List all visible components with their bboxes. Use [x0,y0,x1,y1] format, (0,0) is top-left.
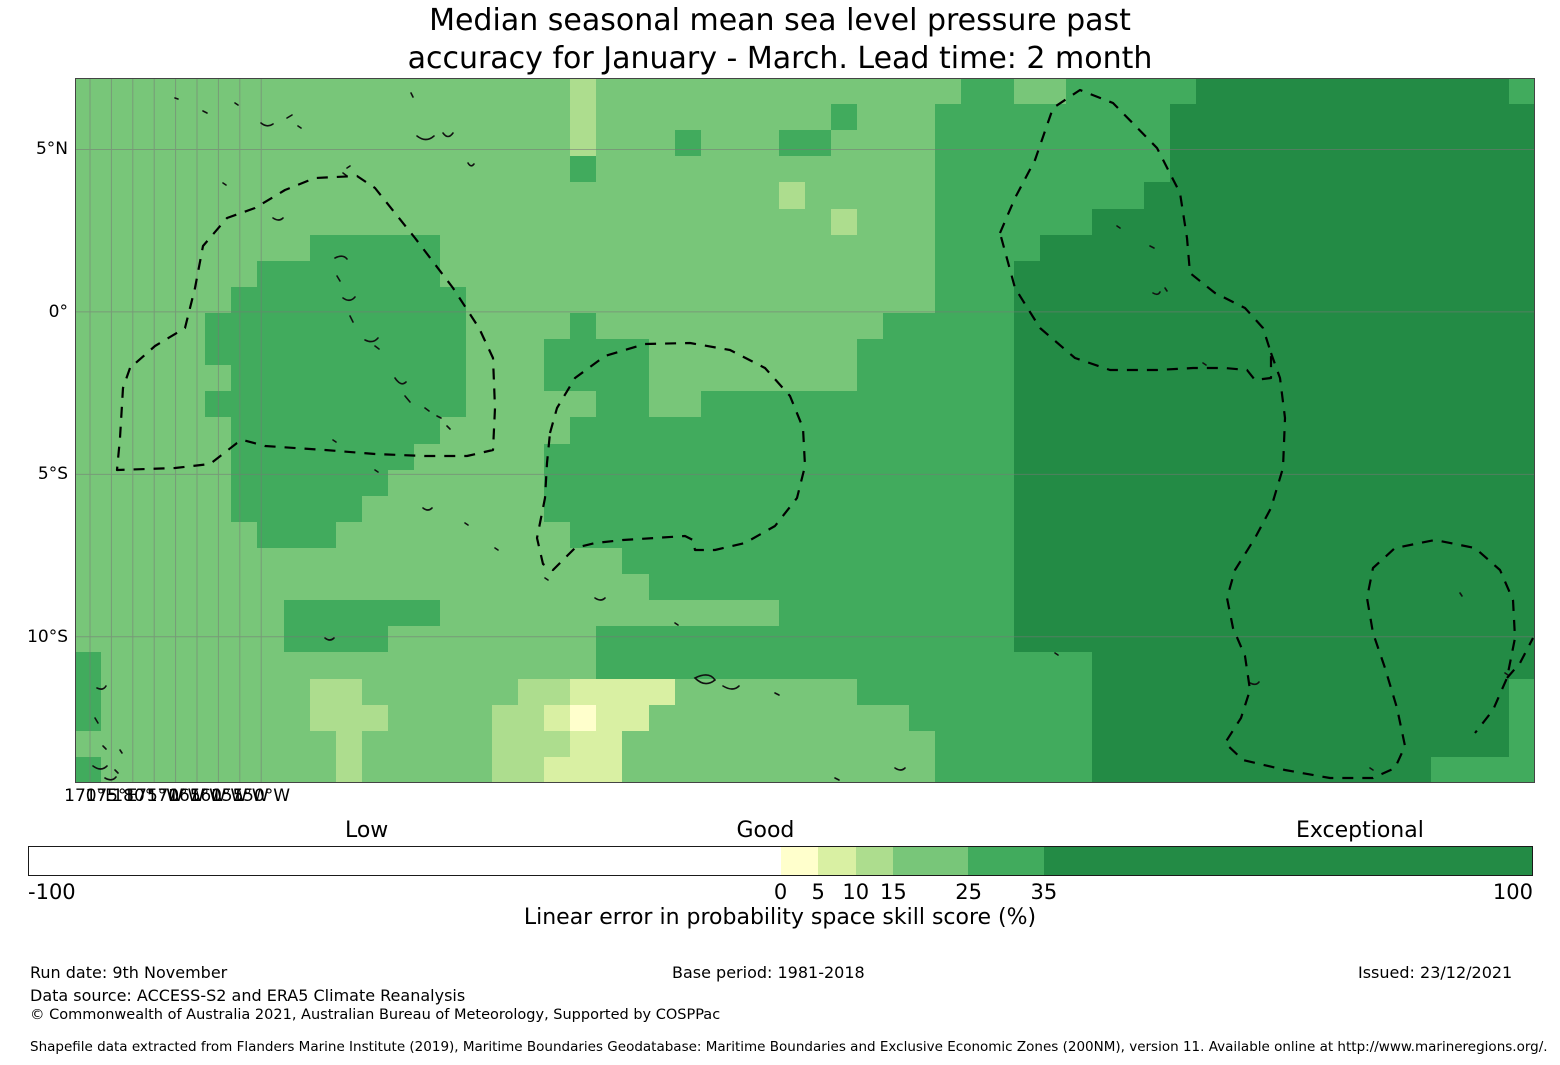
colorbar-tick-7: 100 [1493,880,1533,904]
colorbar-band-4 [893,847,968,875]
quality-label-exceptional: Exceptional [1296,818,1424,843]
y-tick-2: 5°S [38,464,68,484]
colorbar-tick-0: -100 [28,880,76,904]
y-tick-3: 10°S [27,627,68,647]
shapefile-attribution-text: Shapefile data extracted from Flanders M… [30,1039,1548,1055]
colorbar-band-2 [818,847,856,875]
colorbar-band-3 [856,847,894,875]
quality-label-good: Good [736,818,794,843]
issued-date-text: Issued: 23/12/2021 [1358,963,1512,982]
page-title-line1: Median seasonal mean sea level pressure … [0,2,1560,40]
page-title-line2: accuracy for January - March. Lead time:… [0,40,1560,78]
map-panel[interactable] [75,78,1535,783]
colorbar-tick-5: 25 [955,880,982,904]
colorbar-tick-6: 35 [1031,880,1058,904]
colorbar-tick-2: 5 [811,880,824,904]
run-date-text: Run date: 9th November [30,963,227,982]
forecast-map-page: Median seasonal mean sea level pressure … [0,0,1560,1065]
y-tick-1: 0° [49,302,68,322]
copyright-text: © Commonwealth of Australia 2021, Austra… [30,1007,720,1023]
x-tick-8: 150°W [232,786,290,806]
eez-french-polynesia [1507,638,1533,678]
y-tick-0: 5°N [36,139,68,159]
data-source-text: Data source: ACCESS-S2 and ERA5 Climate … [30,986,465,1005]
colorbar-tick-1: 0 [774,880,787,904]
colorbar-band-6 [1044,847,1532,875]
eez-boundaries [117,90,1533,778]
gridlines [75,78,1535,783]
colorbar-axis-label: Linear error in probability space skill … [0,905,1560,930]
quality-label-low: Low [345,818,388,843]
colorbar-tick-4: 15 [880,880,907,904]
eez-vanuatu-newcaledonia [117,176,495,470]
colorbar-tick-3: 10 [842,880,869,904]
colorbar-band-5 [968,847,1043,875]
map-overlay [75,78,1535,783]
eez-fiji [537,343,805,570]
eez-cook-islands [1225,353,1515,778]
base-period-text: Base period: 1981-2018 [672,963,865,982]
coastline-islands [93,93,1508,780]
eez-tuvalu-tokelau [1000,90,1271,380]
colorbar-gradient [28,846,1533,876]
colorbar[interactable] [28,846,1533,876]
page-title: Median seasonal mean sea level pressure … [0,2,1560,78]
colorbar-band-0 [29,847,781,875]
colorbar-band-1 [781,847,819,875]
